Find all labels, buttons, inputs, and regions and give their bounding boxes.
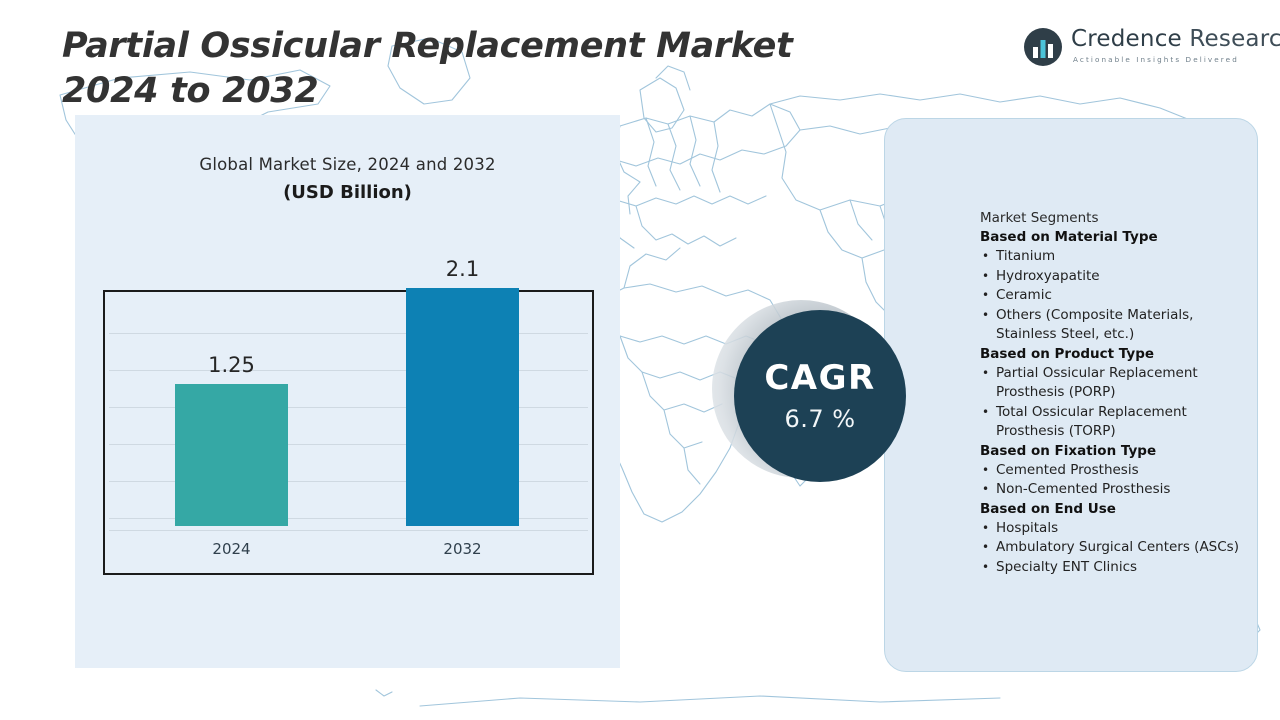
chart-heading: Global Market Size, 2024 and 2032 (USD B… bbox=[75, 155, 620, 203]
brand-name-part2: Research bbox=[1182, 26, 1280, 52]
list-item: Specialty ENT Clinics bbox=[980, 558, 1255, 578]
segment-items-material: Titanium Hydroxyapatite Ceramic Others (… bbox=[980, 247, 1255, 345]
cagr-badge: CAGR 6.7 % bbox=[712, 300, 908, 496]
list-item: Total Ossicular Replacement Prosthesis (… bbox=[980, 403, 1255, 442]
list-item: Partial Ossicular Replacement Prosthesis… bbox=[980, 364, 1255, 403]
list-item: Hydroxyapatite bbox=[980, 267, 1255, 287]
list-item: Ambulatory Surgical Centers (ASCs) bbox=[980, 538, 1255, 558]
bar-2024-rect bbox=[175, 384, 288, 526]
segment-group-title-product: Based on Product Type bbox=[980, 345, 1255, 364]
brand-name: Credence Research bbox=[1071, 26, 1280, 52]
chart-heading-line2: (USD Billion) bbox=[75, 182, 620, 203]
segment-items-fixation: Cemented Prosthesis Non-Cemented Prosthe… bbox=[980, 461, 1255, 500]
segment-group-title-material: Based on Material Type bbox=[980, 228, 1255, 247]
page-title-line1: Partial Ossicular Replacement Market bbox=[62, 24, 1072, 69]
cagr-label: CAGR bbox=[764, 361, 875, 395]
chart-heading-line1: Global Market Size, 2024 and 2032 bbox=[75, 155, 620, 174]
cagr-value: 6.7 % bbox=[784, 407, 855, 431]
chart-plot-area: 1.25 2024 2.1 2032 bbox=[105, 292, 592, 573]
segment-items-enduse: Hospitals Ambulatory Surgical Centers (A… bbox=[980, 519, 1255, 578]
credence-logo-icon bbox=[1023, 27, 1063, 67]
brand-name-part1: Credence bbox=[1071, 26, 1182, 52]
bar-chart: 1.25 2024 2.1 2032 bbox=[103, 290, 594, 575]
segment-group-title-enduse: Based on End Use bbox=[980, 500, 1255, 519]
market-segments-list: Market Segments Based on Material Type T… bbox=[980, 209, 1255, 577]
cagr-circle: CAGR 6.7 % bbox=[734, 310, 906, 482]
bar-2032-rect bbox=[406, 288, 519, 526]
bar-2024-category-label: 2024 bbox=[212, 540, 250, 558]
segment-items-product: Partial Ossicular Replacement Prosthesis… bbox=[980, 364, 1255, 442]
bar-2032: 2.1 2032 bbox=[406, 288, 519, 526]
list-item: Titanium bbox=[980, 247, 1255, 267]
page-title: Partial Ossicular Replacement Market 202… bbox=[62, 24, 1072, 114]
bar-2032-category-label: 2032 bbox=[443, 540, 481, 558]
bar-2032-value-label: 2.1 bbox=[446, 257, 479, 281]
brand-logo[interactable]: Credence Research Actionable Insights De… bbox=[1023, 24, 1257, 72]
list-item: Hospitals bbox=[980, 519, 1255, 539]
infographic-canvas: Global Market Size, 2024 and 2032 (USD B… bbox=[0, 0, 1280, 720]
brand-tagline: Actionable Insights Delivered bbox=[1073, 55, 1239, 64]
page-title-line2: 2024 to 2032 bbox=[62, 69, 1072, 114]
list-item: Ceramic bbox=[980, 286, 1255, 306]
segment-group-title-fixation: Based on Fixation Type bbox=[980, 442, 1255, 461]
list-item: Others (Composite Materials, Stainless S… bbox=[980, 306, 1255, 345]
bar-2024: 1.25 2024 bbox=[175, 384, 288, 526]
segments-heading: Market Segments bbox=[980, 209, 1255, 228]
bar-2024-value-label: 1.25 bbox=[208, 353, 255, 377]
list-item: Non-Cemented Prosthesis bbox=[980, 480, 1255, 500]
list-item: Cemented Prosthesis bbox=[980, 461, 1255, 481]
